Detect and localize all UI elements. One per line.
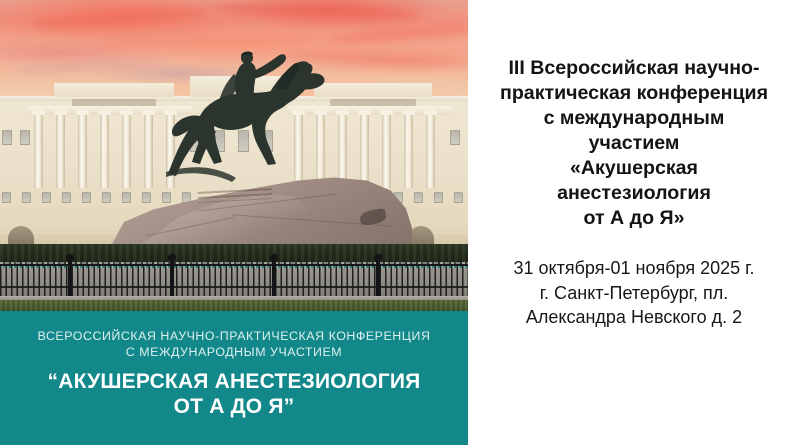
column-icon <box>56 114 65 188</box>
conference-poster: ВСЕРОССИЙСКАЯ НАУЧНО-ПРАКТИЧЕСКАЯ КОНФЕР… <box>0 0 800 445</box>
text-column: III Всероссийская научно- практическая к… <box>468 0 800 445</box>
cloud-streak-icon <box>210 0 420 21</box>
fence-post <box>376 258 380 298</box>
window-icon <box>2 130 12 145</box>
cloud-streak-icon <box>30 4 211 33</box>
conference-title-line-4: участием <box>476 131 792 156</box>
cloud-streak-icon <box>10 58 170 74</box>
window-icon <box>82 192 91 203</box>
fence-post <box>170 258 174 298</box>
conference-title-line-7: от А до Я» <box>476 206 792 231</box>
conference-title-line-6: анестезиология <box>476 181 792 206</box>
equestrian-statue-icon <box>150 44 330 184</box>
cloud-streak-icon <box>330 22 468 46</box>
window-icon <box>450 130 460 145</box>
banner-title-line-2: ОТ А ДО Я” <box>0 394 468 419</box>
conference-title-line-5: «Акушерская <box>476 156 792 181</box>
photo-panel: ВСЕРОССИЙСКАЯ НАУЧНО-ПРАКТИЧЕСКАЯ КОНФЕР… <box>0 0 468 445</box>
conference-title-line-1: III Всероссийская научно- <box>476 56 792 81</box>
conference-venue-city: г. Санкт-Петербург, пл. <box>476 281 792 306</box>
thunder-stone-pedestal <box>112 176 412 250</box>
window-icon <box>434 192 443 203</box>
banner-title: “АКУШЕРСКАЯ АНЕСТЕЗИОЛОГИЯ ОТ А ДО Я” <box>0 369 468 419</box>
column-icon <box>426 114 435 188</box>
conference-venue-address: Александра Невского д. 2 <box>476 305 792 330</box>
teal-banner: ВСЕРОССИЙСКАЯ НАУЧНО-ПРАКТИЧЕСКАЯ КОНФЕР… <box>0 311 468 445</box>
conference-meta: 31 октября-01 ноября 2025 г. г. Санкт-Пе… <box>476 256 792 330</box>
fence-post <box>68 258 72 298</box>
conference-title: III Всероссийская научно- практическая к… <box>476 56 792 231</box>
window-icon <box>42 192 51 203</box>
window-icon <box>62 192 71 203</box>
banner-subtitle-line-1: ВСЕРОССИЙСКАЯ НАУЧНО-ПРАКТИЧЕСКАЯ КОНФЕР… <box>0 311 468 344</box>
column-icon <box>34 114 43 188</box>
window-icon <box>20 130 30 145</box>
window-icon <box>2 192 11 203</box>
column-icon <box>100 114 109 188</box>
conference-dates: 31 октября-01 ноября 2025 г. <box>476 256 792 281</box>
bronze-horseman-photo <box>0 0 468 312</box>
window-icon <box>102 192 111 203</box>
building-attic-right <box>314 83 432 97</box>
conference-title-line-2: практическая конференция <box>476 81 792 106</box>
window-icon <box>22 192 31 203</box>
window-icon <box>414 192 423 203</box>
banner-title-line-1: “АКУШЕРСКАЯ АНЕСТЕЗИОЛОГИЯ <box>0 369 468 394</box>
column-icon <box>78 114 87 188</box>
conference-title-line-3: с международным <box>476 106 792 131</box>
banner-subtitle-line-2: С МЕЖДУНАРОДНЫМ УЧАСТИЕМ <box>0 344 468 360</box>
fence-post <box>272 258 276 298</box>
window-icon <box>454 192 463 203</box>
